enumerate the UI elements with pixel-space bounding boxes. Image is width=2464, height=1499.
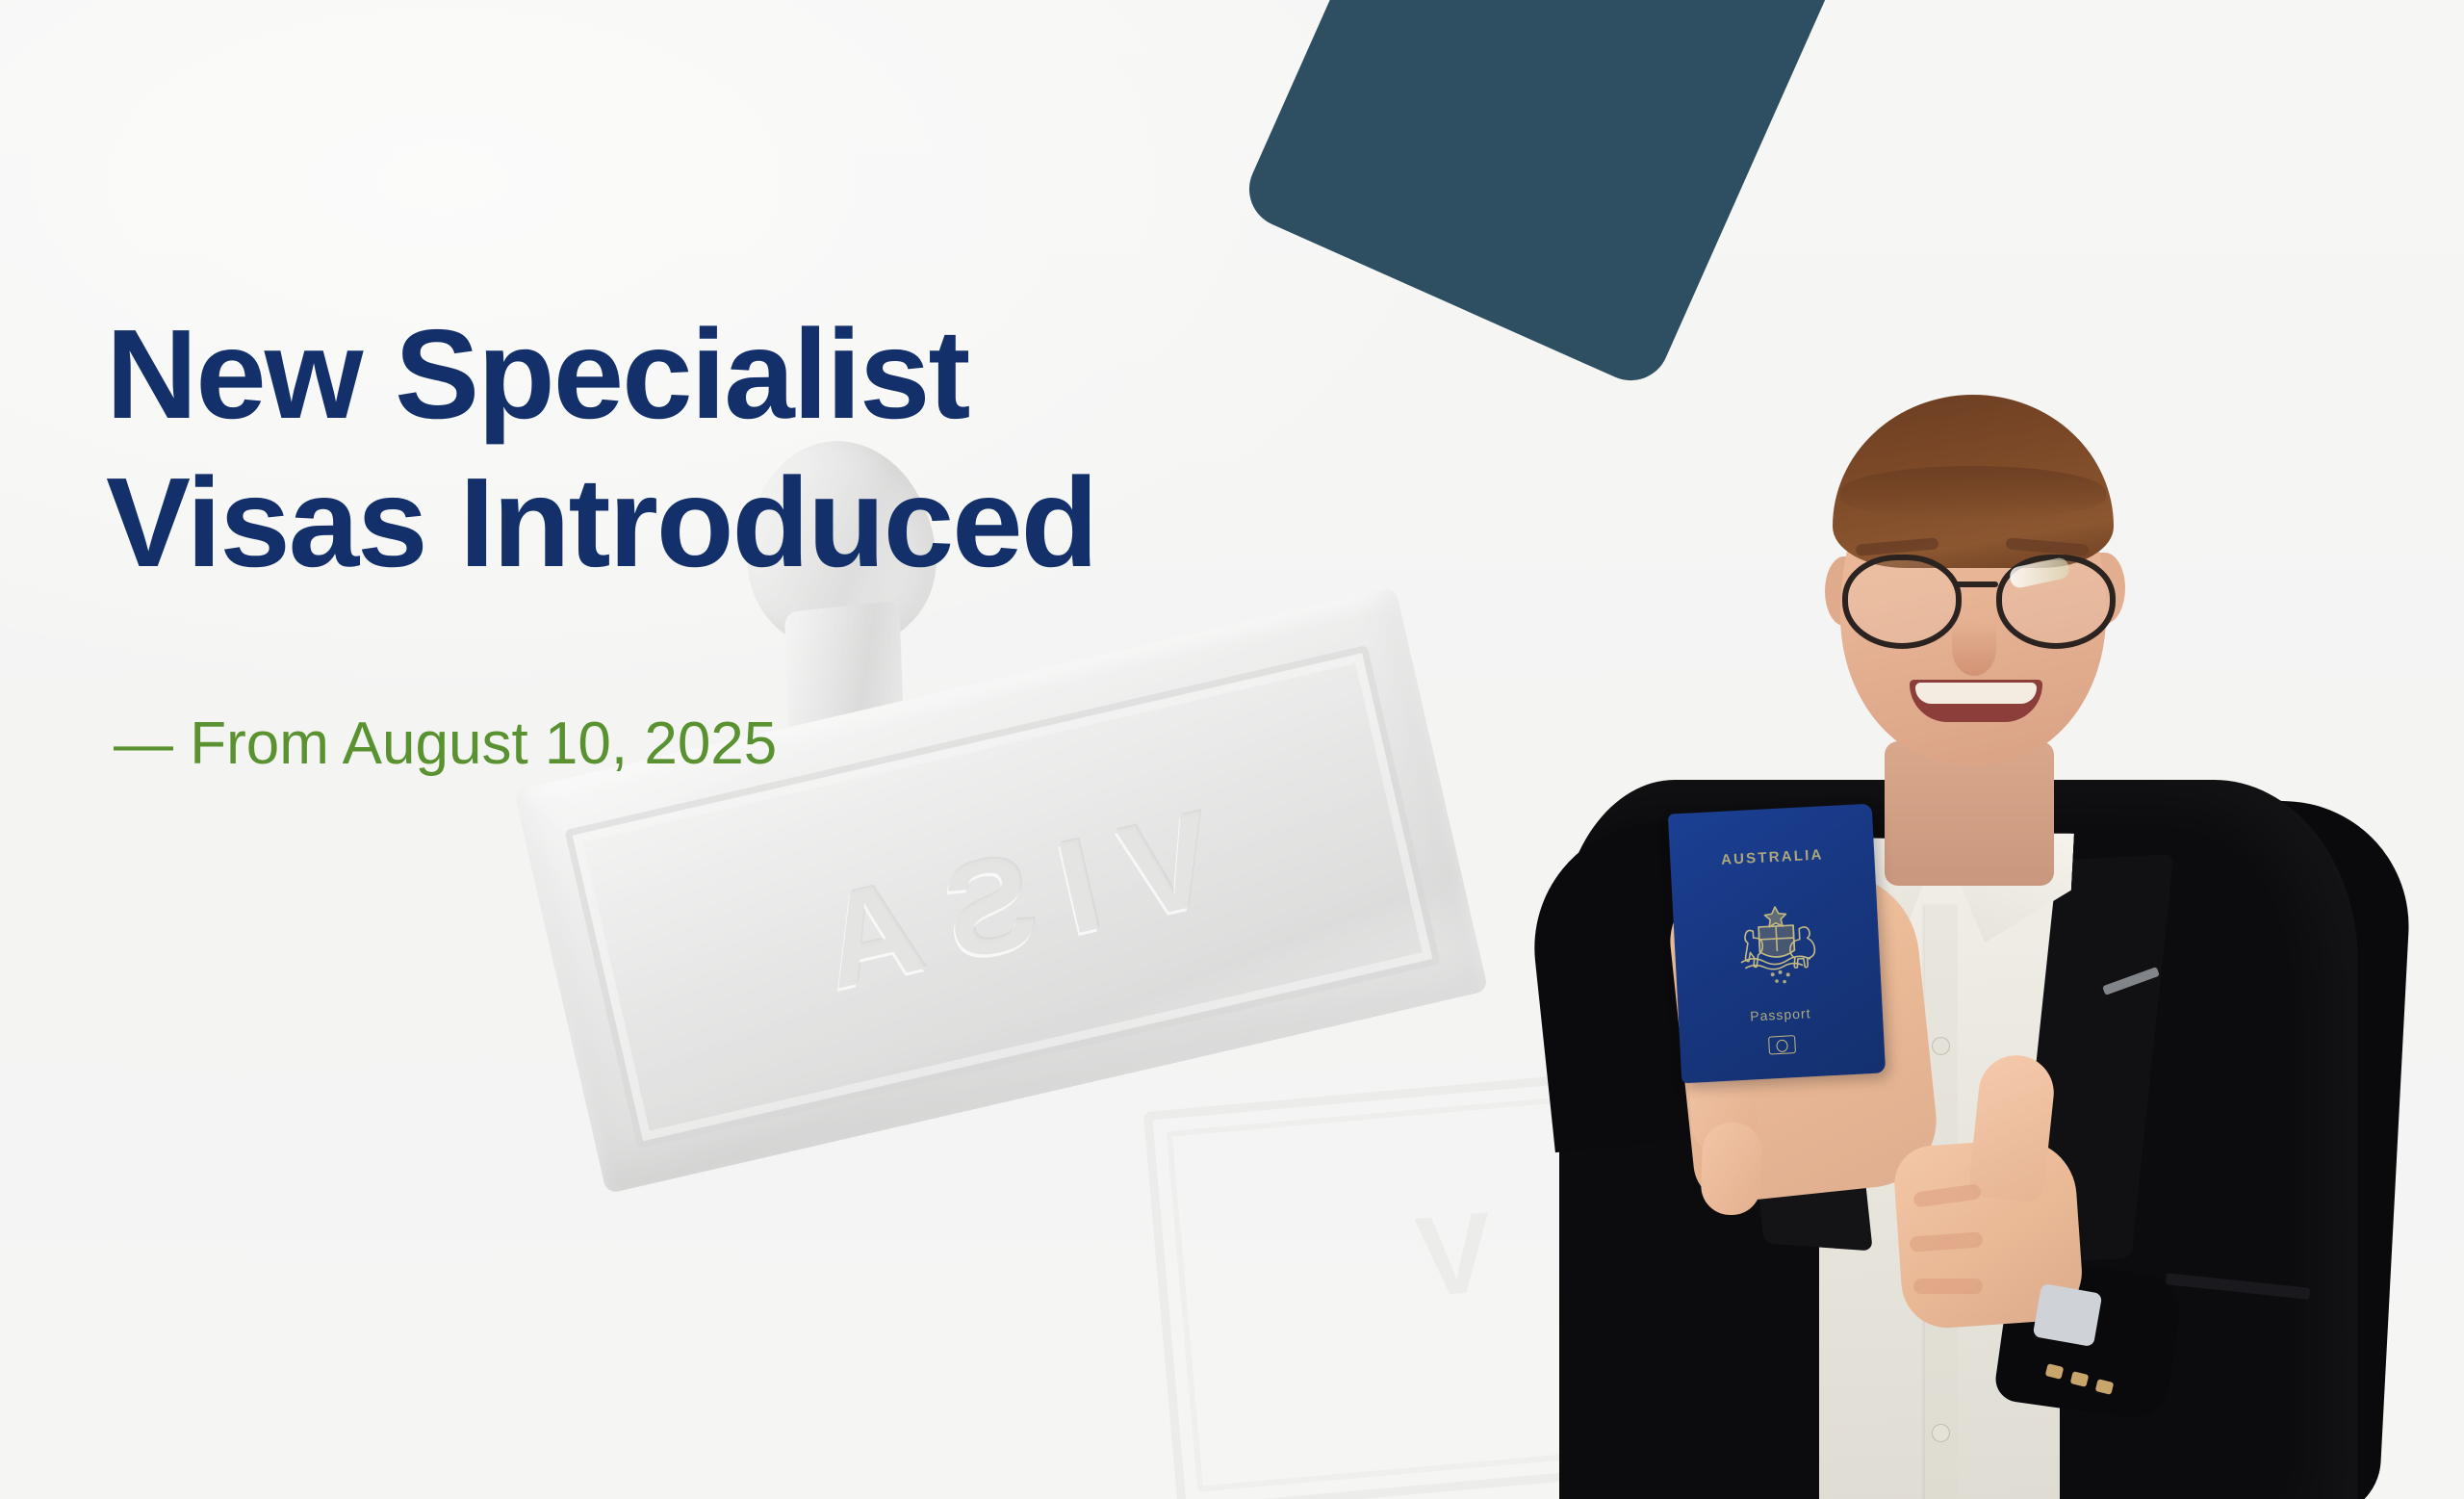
imprint-letter: V: [1411, 1186, 1498, 1323]
subtitle-date: — From August 10, 2025: [114, 710, 777, 778]
passport-document-label: Passport: [1679, 1001, 1884, 1027]
biometric-chip-icon: [1768, 1035, 1796, 1054]
coat-of-arms-icon: [1712, 891, 1840, 994]
nose: [1952, 622, 1996, 676]
headline-block: New Specialist Visas Introduced: [106, 300, 1684, 598]
eyeglass-bridge: [1954, 582, 1998, 587]
passport-country-label: AUSTRALIA: [1670, 844, 1875, 871]
eyeglass-lens-left: [1842, 555, 1962, 649]
australian-passport: AUSTRALIA: [1668, 804, 1886, 1084]
teeth: [1915, 683, 2037, 704]
page-title: New Specialist Visas Introduced: [106, 300, 1684, 598]
hair-fringe: [1840, 466, 2106, 518]
shirt-button: [1933, 1425, 1949, 1441]
banner-canvas: VISA V New Specialist Visas Introduced —…: [0, 0, 2464, 1499]
mouth-smile: [1910, 680, 2042, 722]
shirt-button: [1933, 1038, 1949, 1054]
finger: [1700, 1122, 1762, 1216]
shirt-cuff: [2033, 1283, 2103, 1347]
knuckle: [1913, 1279, 1983, 1294]
